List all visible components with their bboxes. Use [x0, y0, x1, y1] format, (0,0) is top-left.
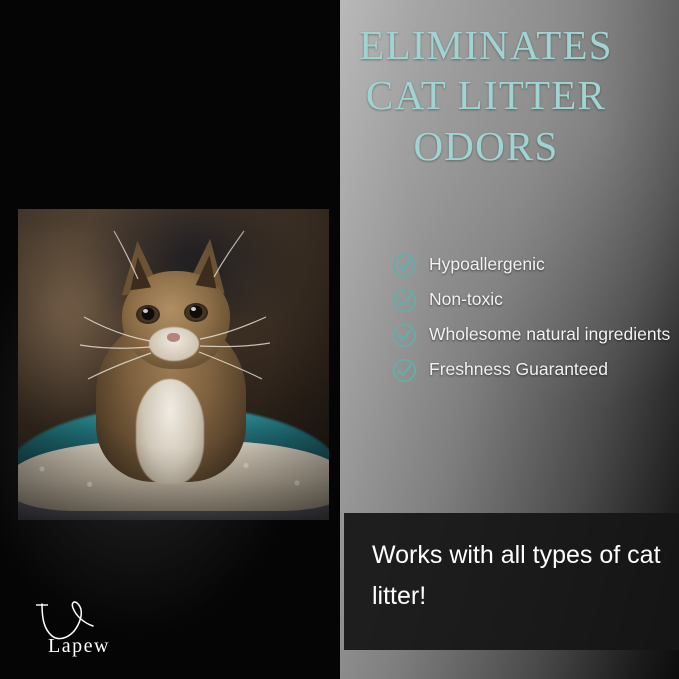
brand-name: Lapew	[48, 635, 110, 658]
photo-vignette	[18, 209, 329, 520]
list-item: Wholesome natural ingredients	[392, 322, 677, 348]
check-circle-icon	[392, 323, 417, 348]
check-circle-icon	[392, 288, 417, 313]
benefits-list: Hypoallergenic Non-toxic Wholesome natur…	[392, 252, 677, 392]
check-circle-icon	[392, 358, 417, 383]
benefit-label: Wholesome natural ingredients	[429, 322, 670, 347]
cat-photo	[18, 209, 329, 520]
advertisement-image: ELIMINATES CAT LITTER ODORS Hypoallergen…	[0, 0, 679, 679]
benefit-label: Freshness Guaranteed	[429, 357, 608, 382]
brand-logo: Lapew	[30, 599, 180, 661]
caption-text: Works with all types of cat litter!	[372, 535, 662, 616]
benefit-label: Non-toxic	[429, 287, 503, 312]
list-item: Hypoallergenic	[392, 252, 677, 278]
benefit-label: Hypoallergenic	[429, 252, 545, 277]
caption-panel: Works with all types of cat litter!	[344, 513, 679, 650]
list-item: Non-toxic	[392, 287, 677, 313]
headline-line-1: ELIMINATES	[300, 20, 672, 70]
list-item: Freshness Guaranteed	[392, 357, 677, 383]
headline-line-2: CAT LITTER	[300, 70, 672, 120]
check-circle-icon	[392, 253, 417, 278]
headline-line-3: ODORS	[300, 121, 672, 171]
headline: ELIMINATES CAT LITTER ODORS	[300, 20, 672, 171]
